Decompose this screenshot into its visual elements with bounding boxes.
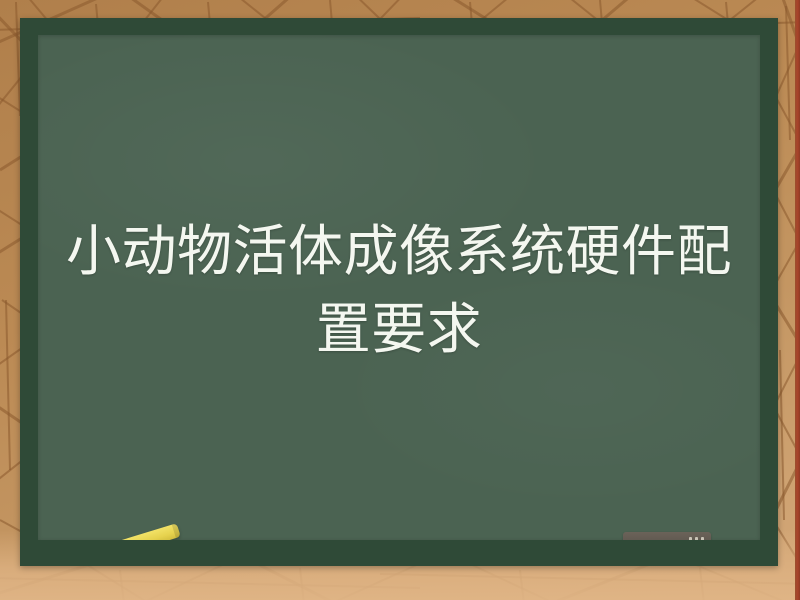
blackboard-frame: 小动物活体成像系统硬件配置要求 bbox=[20, 18, 778, 566]
chalk-yellow-icon bbox=[117, 523, 180, 540]
frame-right-edge-strip bbox=[795, 0, 800, 600]
page-title: 小动物活体成像系统硬件配置要求 bbox=[66, 213, 732, 369]
title-area: 小动物活体成像系统硬件配置要求 bbox=[38, 213, 760, 369]
eraser-handle bbox=[623, 532, 711, 540]
eraser-stripes bbox=[689, 537, 704, 540]
blackboard-eraser-icon bbox=[621, 532, 713, 540]
eraser-stripe bbox=[695, 537, 698, 540]
chalk-yellow-tip bbox=[172, 523, 181, 538]
blackboard-surface: 小动物活体成像系统硬件配置要求 bbox=[38, 35, 760, 540]
slide-canvas: 小动物活体成像系统硬件配置要求 bbox=[0, 0, 800, 600]
eraser-stripe bbox=[689, 537, 692, 540]
eraser-stripe bbox=[701, 537, 704, 540]
